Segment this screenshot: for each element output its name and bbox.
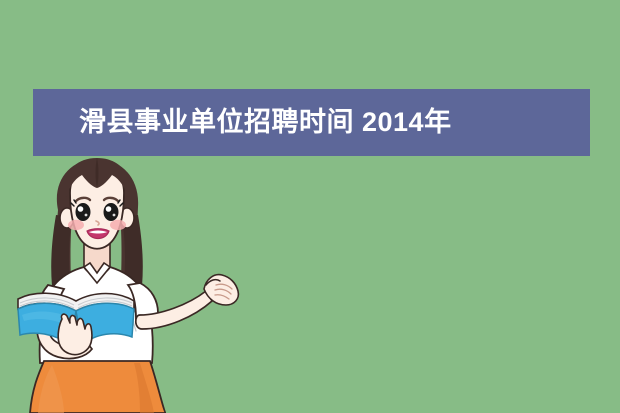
page-title: 滑县事业单位招聘时间 2014年 bbox=[79, 109, 452, 136]
cartoon-girl-illustration bbox=[0, 155, 260, 413]
page-root: 滑县事业单位招聘时间 2014年 bbox=[0, 0, 620, 413]
right-arm-icon bbox=[128, 275, 238, 329]
title-banner: 滑县事业单位招聘时间 2014年 bbox=[33, 89, 590, 156]
skirt-icon bbox=[30, 361, 166, 413]
